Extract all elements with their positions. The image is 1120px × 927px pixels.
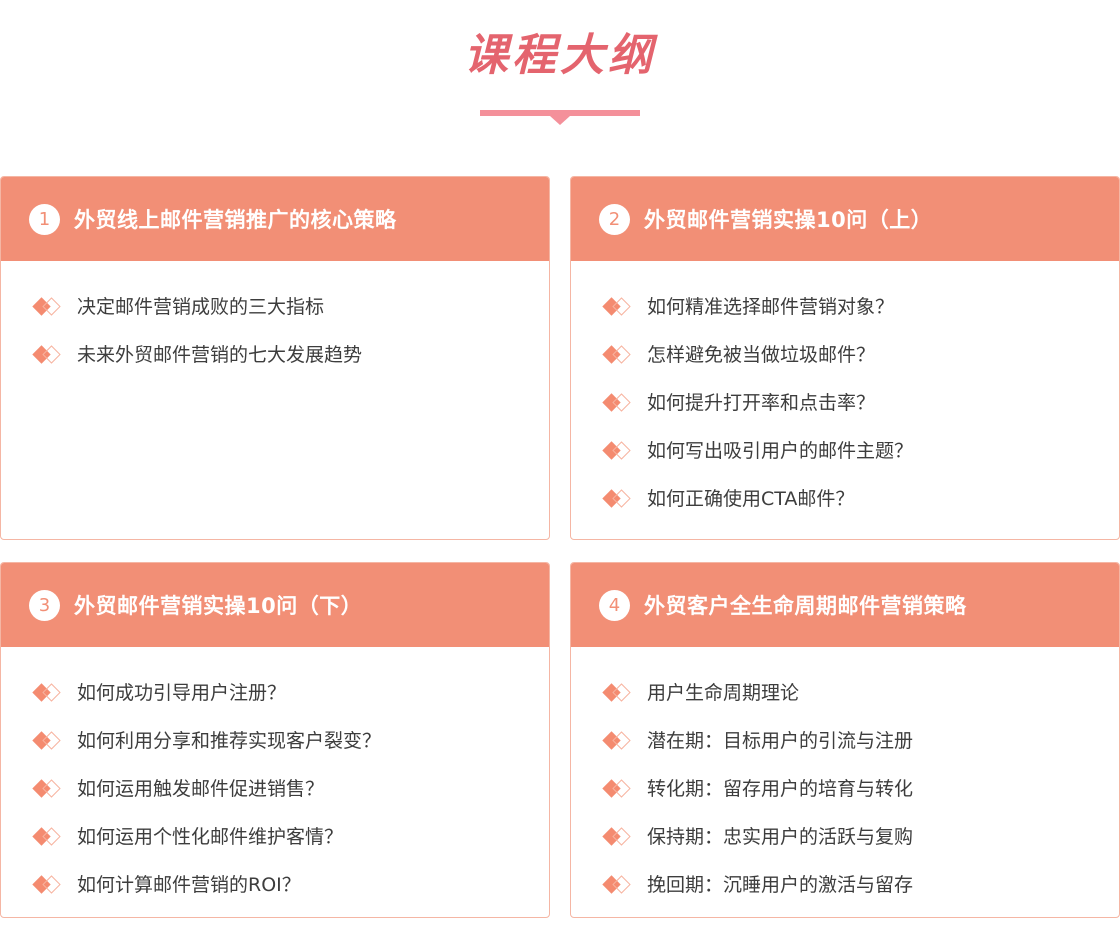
title-underline-decoration xyxy=(480,110,640,116)
card-4-number-badge: 4 xyxy=(599,590,630,621)
double-diamond-bullet-icon xyxy=(34,682,64,704)
card-1-title: 外贸线上邮件营销推广的核心策略 xyxy=(74,204,397,234)
list-item[interactable]: 如何正确使用CTA邮件？ xyxy=(571,475,1119,523)
card-3-title: 外贸邮件营销实操10问（下） xyxy=(74,590,362,620)
list-item-label: 如何精准选择邮件营销对象？ xyxy=(647,294,894,320)
list-item[interactable]: 如何利用分享和推荐实现客户裂变？ xyxy=(1,717,549,765)
double-diamond-bullet-icon xyxy=(604,488,634,510)
card-2-number-badge: 2 xyxy=(599,204,630,235)
list-item[interactable]: 如何提升打开率和点击率？ xyxy=(571,379,1119,427)
list-item[interactable]: 决定邮件营销成败的三大指标 xyxy=(1,283,549,331)
list-item-label: 如何提升打开率和点击率？ xyxy=(647,390,875,416)
double-diamond-bullet-icon xyxy=(604,296,634,318)
outline-card-3[interactable]: 3 外贸邮件营销实操10问（下） 如何成功引导用户注册？ 如何利用分享和推荐实现… xyxy=(0,562,550,918)
list-item[interactable]: 未来外贸邮件营销的七大发展趋势 xyxy=(1,331,549,379)
list-item-label: 如何利用分享和推荐实现客户裂变？ xyxy=(77,728,381,754)
list-item-label: 如何运用触发邮件促进销售？ xyxy=(77,776,324,802)
double-diamond-bullet-icon xyxy=(34,778,64,800)
list-item[interactable]: 如何运用触发邮件促进销售？ xyxy=(1,765,549,813)
card-4-title: 外贸客户全生命周期邮件营销策略 xyxy=(644,590,967,620)
list-item-label: 如何运用个性化邮件维护客情？ xyxy=(77,824,343,850)
card-4-header: 4 外贸客户全生命周期邮件营销策略 xyxy=(571,563,1119,647)
double-diamond-bullet-icon xyxy=(604,730,634,752)
list-item[interactable]: 用户生命周期理论 xyxy=(571,669,1119,717)
list-item-label: 怎样避免被当做垃圾邮件？ xyxy=(647,342,875,368)
list-item-label: 潜在期：目标用户的引流与注册 xyxy=(647,728,913,754)
card-2-header: 2 外贸邮件营销实操10问（上） xyxy=(571,177,1119,261)
list-item[interactable]: 挽回期：沉睡用户的激活与留存 xyxy=(571,861,1119,909)
card-2-title: 外贸邮件营销实操10问（上） xyxy=(644,204,932,234)
double-diamond-bullet-icon xyxy=(604,874,634,896)
list-item-label: 如何计算邮件营销的ROI？ xyxy=(77,872,301,898)
list-item[interactable]: 如何写出吸引用户的邮件主题？ xyxy=(571,427,1119,475)
page-title: 课程大纲 xyxy=(0,28,1120,84)
list-item-label: 用户生命周期理论 xyxy=(647,680,799,706)
double-diamond-bullet-icon xyxy=(34,344,64,366)
card-2-body: 如何精准选择邮件营销对象？ 怎样避免被当做垃圾邮件？ 如何提升打开率和点击率？ xyxy=(571,261,1119,539)
double-diamond-bullet-icon xyxy=(604,826,634,848)
list-item-label: 保持期：忠实用户的活跃与复购 xyxy=(647,824,913,850)
outline-card-4[interactable]: 4 外贸客户全生命周期邮件营销策略 用户生命周期理论 潜在期：目标用户的引流与注… xyxy=(570,562,1120,918)
double-diamond-bullet-icon xyxy=(34,296,64,318)
card-4-body: 用户生命周期理论 潜在期：目标用户的引流与注册 转化期：留存用户的培育与转化 xyxy=(571,647,1119,917)
outline-card-2[interactable]: 2 外贸邮件营销实操10问（上） 如何精准选择邮件营销对象？ 怎样避免被当做垃圾… xyxy=(570,176,1120,540)
list-item[interactable]: 如何运用个性化邮件维护客情？ xyxy=(1,813,549,861)
triangle-notch-icon xyxy=(550,116,570,125)
double-diamond-bullet-icon xyxy=(604,392,634,414)
list-item[interactable]: 潜在期：目标用户的引流与注册 xyxy=(571,717,1119,765)
double-diamond-bullet-icon xyxy=(604,682,634,704)
list-item-label: 挽回期：沉睡用户的激活与留存 xyxy=(647,872,913,898)
double-diamond-bullet-icon xyxy=(34,730,64,752)
list-item[interactable]: 转化期：留存用户的培育与转化 xyxy=(571,765,1119,813)
card-1-number-badge: 1 xyxy=(29,204,60,235)
card-3-header: 3 外贸邮件营销实操10问（下） xyxy=(1,563,549,647)
list-item[interactable]: 如何成功引导用户注册？ xyxy=(1,669,549,717)
double-diamond-bullet-icon xyxy=(604,344,634,366)
page-header: 课程大纲 xyxy=(0,0,1120,116)
card-1-header: 1 外贸线上邮件营销推广的核心策略 xyxy=(1,177,549,261)
card-3-number-badge: 3 xyxy=(29,590,60,621)
list-item-label: 转化期：留存用户的培育与转化 xyxy=(647,776,913,802)
list-item-label: 未来外贸邮件营销的七大发展趋势 xyxy=(77,342,362,368)
list-item-label: 如何成功引导用户注册？ xyxy=(77,680,286,706)
list-item-label: 如何写出吸引用户的邮件主题？ xyxy=(647,438,913,464)
double-diamond-bullet-icon xyxy=(34,874,64,896)
double-diamond-bullet-icon xyxy=(604,778,634,800)
list-item[interactable]: 怎样避免被当做垃圾邮件？ xyxy=(571,331,1119,379)
double-diamond-bullet-icon xyxy=(34,826,64,848)
outline-card-grid: 1 外贸线上邮件营销推广的核心策略 决定邮件营销成败的三大指标 未来外贸邮件营销… xyxy=(0,176,1120,918)
card-1-body: 决定邮件营销成败的三大指标 未来外贸邮件营销的七大发展趋势 xyxy=(1,261,549,539)
list-item[interactable]: 如何计算邮件营销的ROI？ xyxy=(1,861,549,909)
list-item-label: 决定邮件营销成败的三大指标 xyxy=(77,294,324,320)
list-item[interactable]: 保持期：忠实用户的活跃与复购 xyxy=(571,813,1119,861)
card-3-body: 如何成功引导用户注册？ 如何利用分享和推荐实现客户裂变？ 如何运用触发邮件促进销… xyxy=(1,647,549,917)
list-item[interactable]: 如何精准选择邮件营销对象？ xyxy=(571,283,1119,331)
outline-card-1[interactable]: 1 外贸线上邮件营销推广的核心策略 决定邮件营销成败的三大指标 未来外贸邮件营销… xyxy=(0,176,550,540)
list-item-label: 如何正确使用CTA邮件？ xyxy=(647,486,854,512)
double-diamond-bullet-icon xyxy=(604,440,634,462)
